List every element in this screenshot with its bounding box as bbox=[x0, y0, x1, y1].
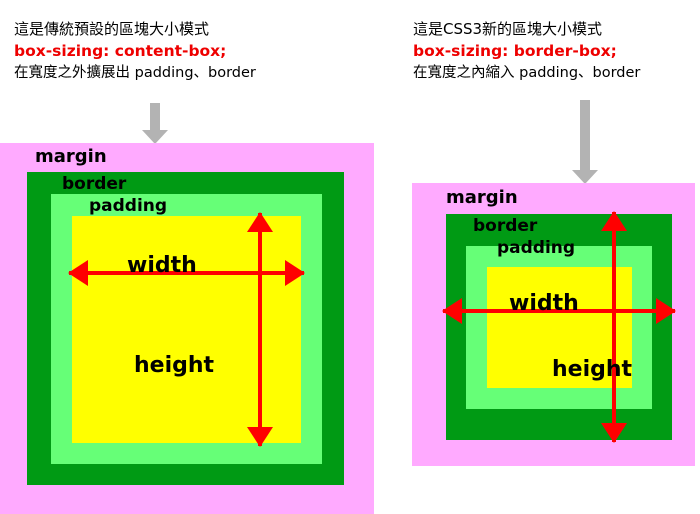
caption-border-box: 這是CSS3新的區塊大小模式 box-sizing: border-box; 在… bbox=[413, 18, 640, 84]
width-label: width bbox=[127, 255, 197, 277]
down-arrow-icon bbox=[571, 100, 599, 184]
arrow-shaft bbox=[612, 212, 616, 442]
box-model-border-box: margin border padding width height bbox=[412, 183, 695, 466]
caption-content-box: 這是傳統預設的區塊大小模式 box-sizing: content-box; 在… bbox=[14, 18, 256, 84]
arrow-head bbox=[572, 170, 598, 184]
arrow-head-top bbox=[601, 211, 627, 231]
height-label: height bbox=[552, 359, 632, 381]
arrow-head-right bbox=[656, 298, 676, 324]
width-label: width bbox=[509, 293, 579, 315]
border-label: border bbox=[473, 218, 537, 235]
height-measure-arrow bbox=[601, 212, 627, 442]
caption-line-1: 這是傳統預設的區塊大小模式 bbox=[14, 18, 256, 40]
arrow-shaft bbox=[150, 103, 160, 131]
height-label: height bbox=[134, 355, 214, 377]
arrow-head-right bbox=[285, 260, 305, 286]
border-label: border bbox=[62, 176, 126, 193]
margin-label: margin bbox=[446, 189, 518, 207]
arrow-head-bottom bbox=[247, 427, 273, 447]
margin-label: margin bbox=[35, 148, 107, 166]
arrow-shaft bbox=[258, 213, 262, 446]
arrow-head-left bbox=[68, 260, 88, 286]
diagram-canvas: 這是傳統預設的區塊大小模式 box-sizing: content-box; 在… bbox=[0, 0, 700, 514]
caption-line-1: 這是CSS3新的區塊大小模式 bbox=[413, 18, 640, 40]
down-arrow-icon bbox=[141, 103, 169, 144]
arrow-shaft bbox=[580, 100, 590, 171]
caption-line-code: box-sizing: border-box; bbox=[413, 40, 640, 62]
padding-label: padding bbox=[89, 198, 167, 215]
arrow-head-left bbox=[442, 298, 462, 324]
arrow-head bbox=[142, 130, 168, 144]
caption-line-3: 在寬度之外擴展出 padding、border bbox=[14, 62, 256, 84]
height-measure-arrow bbox=[247, 213, 273, 446]
arrow-head-bottom bbox=[601, 423, 627, 443]
box-model-content-box: margin border padding width height bbox=[0, 143, 374, 514]
caption-line-code: box-sizing: content-box; bbox=[14, 40, 256, 62]
padding-label: padding bbox=[497, 240, 575, 257]
arrow-head-top bbox=[247, 212, 273, 232]
caption-line-3: 在寬度之內縮入 padding、border bbox=[413, 62, 640, 84]
